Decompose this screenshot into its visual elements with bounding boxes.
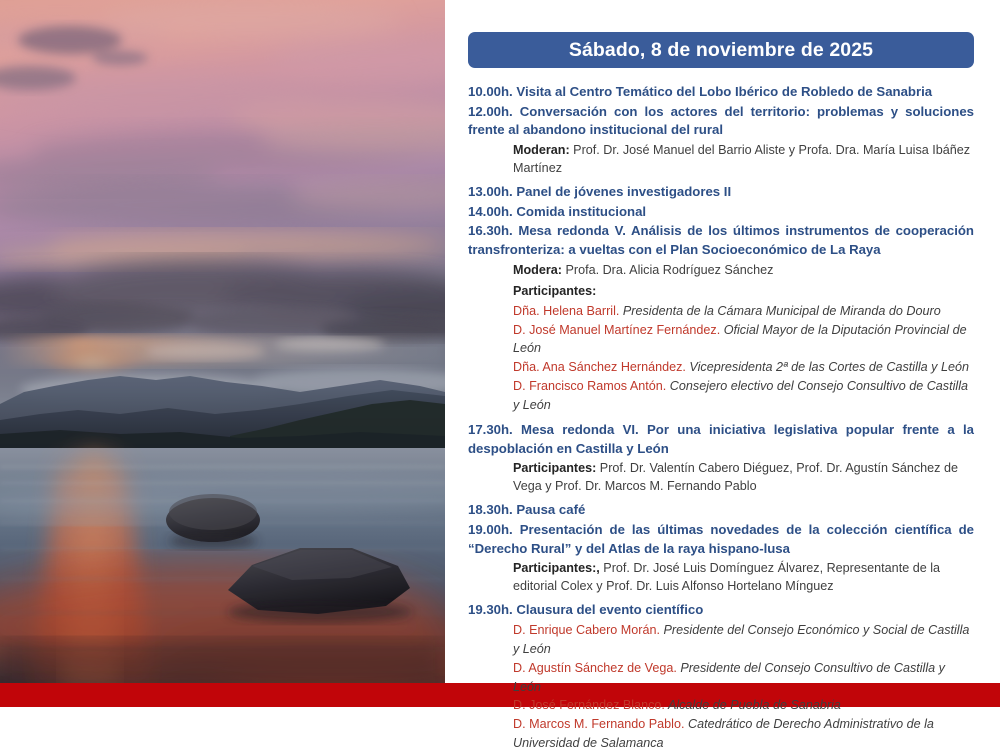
program-detail: Participantes: Prof. Dr. Valentín Cabero… (513, 460, 974, 495)
participant-name: D. Enrique Cabero Morán. (513, 623, 660, 637)
participant-name: D. José Fernández Blanco. (513, 698, 665, 712)
participant-name: D. Marcos M. Fernando Pablo. (513, 717, 685, 731)
program-column: Sábado, 8 de noviembre de 2025 10.00h. V… (468, 0, 974, 683)
detail-label: Modera: (513, 263, 562, 277)
participant-entry: Dña. Helena Barril. Presidenta de la Cám… (513, 302, 974, 321)
participant-name: Dña. Ana Sánchez Hernández. (513, 360, 686, 374)
participant-entry: D. Marcos M. Fernando Pablo. Catedrático… (513, 715, 974, 753)
program-heading: 19.00h. Presentación de las últimas nove… (468, 521, 974, 558)
detail-label: Participantes: (513, 461, 596, 475)
poster-page: Sábado, 8 de noviembre de 2025 10.00h. V… (0, 0, 1000, 707)
program-detail: Moderan: Prof. Dr. José Manuel del Barri… (513, 142, 974, 177)
participant-entry: D. José Fernández Blanco. Alcalde de Pue… (513, 696, 974, 715)
program-heading: 18.30h. Pausa café (468, 501, 974, 520)
program-heading: 17.30h. Mesa redonda VI. Por una iniciat… (468, 421, 974, 458)
participant-name: D. José Manuel Martínez Fernández. (513, 323, 720, 337)
program-heading: 10.00h. Visita al Centro Temático del Lo… (468, 83, 974, 102)
program-heading: 14.00h. Comida institucional (468, 203, 974, 222)
participant-entry: Dña. Ana Sánchez Hernández. Vicepresiden… (513, 358, 974, 377)
program-detail: Participantes:, Prof. Dr. José Luis Domí… (513, 560, 974, 595)
lake-sunset-photo (0, 0, 445, 683)
participant-role: Presidenta de la Cámara Municipal de Mir… (619, 304, 940, 318)
program-heading: 13.00h. Panel de jóvenes investigadores … (468, 183, 974, 202)
program-heading: 12.00h. Conversación con los actores del… (468, 103, 974, 140)
participants-label: Participantes: (513, 283, 974, 300)
detail-label: Moderan: (513, 143, 570, 157)
participant-entry: D. Agustín Sánchez de Vega. Presidente d… (513, 659, 974, 697)
photo-artwork (0, 0, 445, 683)
detail-text: Prof. Dr. José Manuel del Barrio Aliste … (513, 143, 970, 174)
detail-text: Profa. Dra. Alicia Rodríguez Sánchez (562, 263, 773, 277)
detail-label: Participantes:, (513, 561, 600, 575)
participant-name: D. Francisco Ramos Antón. (513, 379, 666, 393)
program-heading: 19.30h. Clausura del evento científico (468, 601, 974, 620)
participant-entry: D. Enrique Cabero Morán. Presidente del … (513, 621, 974, 659)
participant-role: Vicepresidenta 2ª de las Cortes de Casti… (686, 360, 969, 374)
participant-entry: D. José Manuel Martínez Fernández. Ofici… (513, 321, 974, 359)
participant-role: Alcalde de Puebla de Sanabria (665, 698, 841, 712)
participant-name: D. Agustín Sánchez de Vega. (513, 661, 677, 675)
day-banner: Sábado, 8 de noviembre de 2025 (468, 32, 974, 68)
program-detail: Modera: Profa. Dra. Alicia Rodríguez Sán… (513, 262, 974, 279)
day-banner-title: Sábado, 8 de noviembre de 2025 (569, 39, 873, 62)
program-heading: 16.30h. Mesa redonda V. Análisis de los … (468, 222, 974, 259)
participant-entry: D. Francisco Ramos Antón. Consejero elec… (513, 377, 974, 415)
participant-name: Dña. Helena Barril. (513, 304, 619, 318)
program-list: 10.00h. Visita al Centro Temático del Lo… (468, 83, 974, 753)
